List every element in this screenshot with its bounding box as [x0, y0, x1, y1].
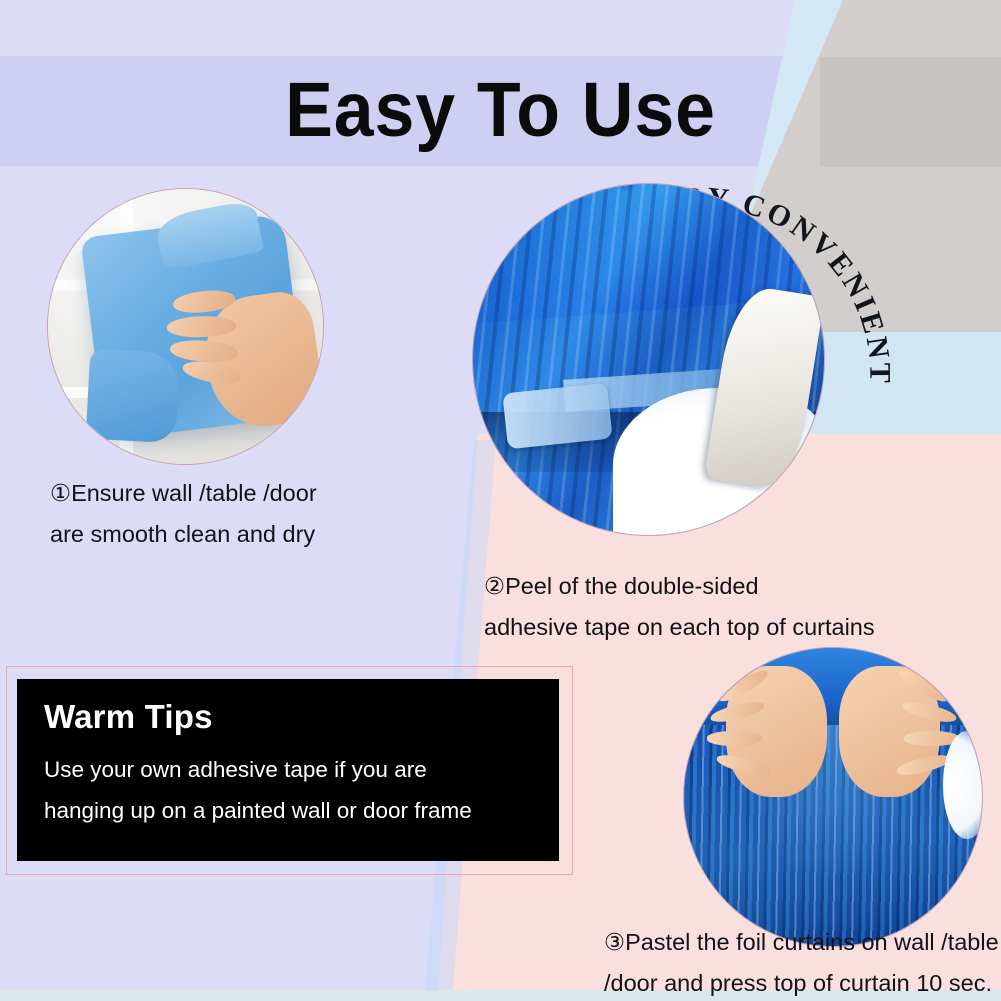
hand-pressing: [164, 266, 318, 426]
page-title: Easy To Use: [35, 68, 966, 152]
step-3-photo: [683, 647, 983, 947]
step-1-caption: ①Ensure wall /table /door are smooth cle…: [50, 473, 317, 555]
step-2-caption-line-1: ②Peel of the double-sided: [484, 566, 875, 607]
tape-strip-short: [502, 382, 613, 449]
step-3-photo-scene: [684, 648, 982, 946]
step-3-caption-line-2: /door and press top of curtain 10 sec.: [604, 963, 999, 1001]
right-hand: [839, 666, 940, 797]
step-1-photo-scene: [48, 189, 323, 464]
step-1-caption-line-2: are smooth clean and dry: [50, 514, 317, 555]
left-hand: [726, 666, 827, 797]
step-3-caption: ③Pastel the foil curtains on wall /table…: [604, 922, 999, 1001]
warm-tips-line-2: hanging up on a painted wall or door fra…: [44, 790, 559, 831]
step-2-caption-line-2: adhesive tape on each top of curtains: [484, 607, 875, 648]
infographic-canvas: Easy To Use VERY CONVENIENT: [0, 0, 1001, 1001]
step-3-caption-line-1: ③Pastel the foil curtains on wall /table: [604, 922, 999, 963]
warm-tips-title: Warm Tips: [44, 697, 559, 737]
step-2-photo-scene: [473, 184, 824, 535]
finger: [707, 731, 762, 745]
step-2-photo: [472, 183, 825, 536]
step-2-caption: ②Peel of the double-sided adhesive tape …: [484, 566, 875, 648]
step-1-photo: [47, 188, 324, 465]
warm-tips-line-1: Use your own adhesive tape if you are: [44, 749, 559, 790]
step-1-caption-line-1: ①Ensure wall /table /door: [50, 473, 317, 514]
warm-tips-body: Use your own adhesive tape if you are ha…: [44, 749, 559, 831]
wall-edge-highlight: [943, 731, 983, 838]
warm-tips-box: Warm Tips Use your own adhesive tape if …: [17, 679, 559, 861]
